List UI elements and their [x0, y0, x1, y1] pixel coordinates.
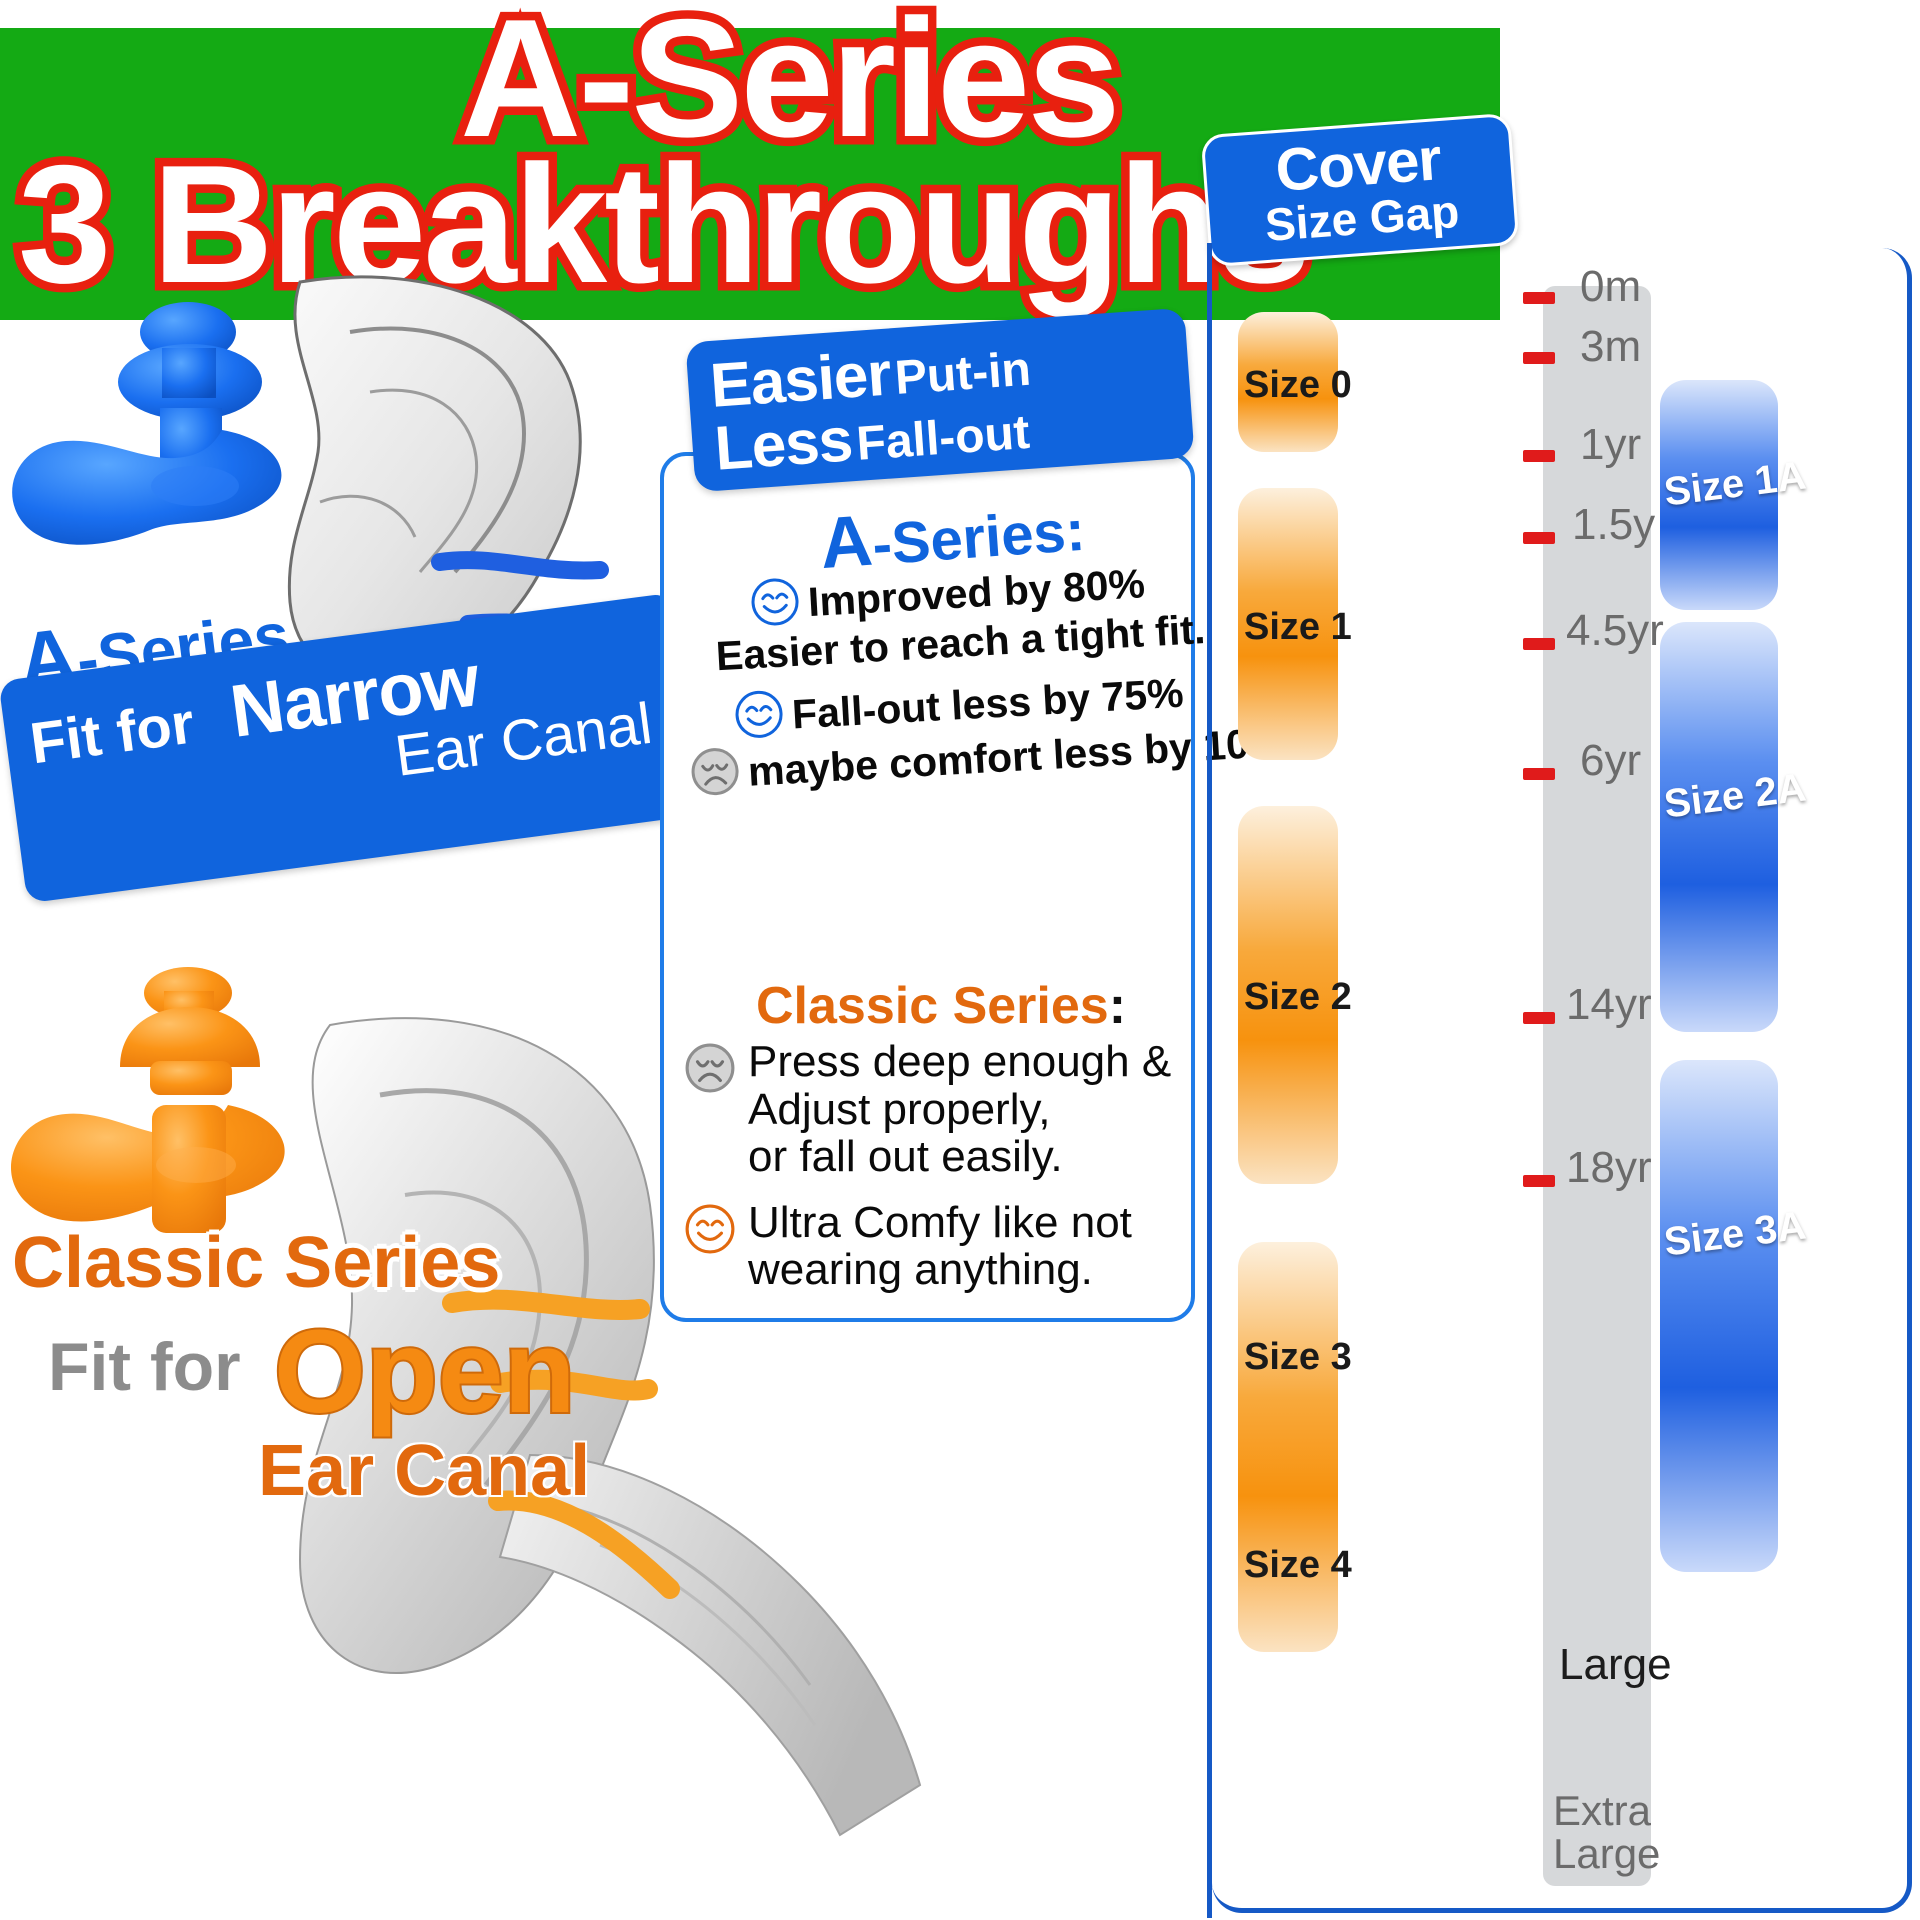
label-fit-for-open-ear-canal: Fit for Open Ear Canal — [48, 1318, 688, 1568]
less-word: Less — [713, 406, 855, 484]
age-tick-4.5yr — [1523, 638, 1555, 650]
classic-line-2: Adjust properly, — [748, 1085, 1050, 1134]
age-label-1.5y: 1.5y — [1572, 500, 1655, 550]
card-classic-heading-text: Classic Series — [756, 977, 1109, 1035]
size-pill-size-0: Size 0 — [1238, 312, 1338, 452]
size-pill-size-2-label: Size 2 — [1244, 976, 1352, 1019]
smiley-sad-gray-icon — [689, 745, 742, 803]
comparison-card: A-Series: Improved by 80% Easier to reac… — [660, 452, 1195, 1322]
comfy-line-2: wearing anything. — [748, 1245, 1093, 1294]
put-in-word: Put-in — [893, 343, 1032, 405]
classic-item-press-deep: Press deep enough & Adjust properly, or … — [684, 1038, 1194, 1181]
open-keyword-text: Open — [274, 1304, 576, 1440]
age-tick-0m — [1523, 292, 1555, 304]
smiley-happy-blue-icon — [733, 688, 786, 746]
comfy-line-1: Ultra Comfy like not — [748, 1198, 1132, 1247]
open-fit-for-text: Fit for — [48, 1328, 241, 1406]
size-pill-size-3a: Size 3A — [1660, 1060, 1778, 1572]
age-label-3m: 3m — [1580, 322, 1641, 372]
age-label-extra-large: Extra Large — [1553, 1790, 1649, 1876]
card-classic-series-heading: Classic Series: — [756, 976, 1126, 1036]
fall-out-word: Fall-out — [855, 406, 1032, 471]
age-tick-1yr — [1523, 450, 1555, 462]
card-classic-heading-colon: : — [1109, 977, 1126, 1035]
classic-series-list: Press deep enough & Adjust properly, or … — [684, 1038, 1194, 1312]
size-pill-size-3: Size 3 Size 4 — [1238, 1242, 1338, 1652]
age-label-large: Large — [1559, 1640, 1672, 1690]
age-label-18yr: 18yr — [1566, 1143, 1652, 1193]
classic-item-ultra-comfy-lines: Ultra Comfy like not wearing anything. — [748, 1199, 1132, 1294]
age-label-14yr: 14yr — [1566, 980, 1652, 1030]
age-tick-18yr — [1523, 1175, 1555, 1187]
size-pill-size-1-label: Size 1 — [1244, 606, 1352, 649]
size-pill-size-0-label: Size 0 — [1244, 364, 1352, 407]
smiley-happy-orange-icon — [684, 1203, 736, 1260]
size-pill-size-1: Size 1 — [1238, 488, 1338, 760]
earplug-blue-a-series-icon — [0, 290, 330, 610]
classic-item-press-deep-lines: Press deep enough & Adjust properly, or … — [748, 1038, 1171, 1181]
size-pill-size-1a: Size 1A — [1660, 380, 1778, 610]
smiley-happy-blue-icon — [749, 576, 802, 634]
cover-size-gap-badge: Cover Size Gap — [1201, 113, 1520, 267]
size-pill-size-4-label: Size 4 — [1244, 1544, 1352, 1587]
age-label-6yr: 6yr — [1580, 736, 1641, 786]
size-pill-size-2a: Size 2A — [1660, 622, 1778, 1032]
age-label-4.5yr: 4.5yr — [1566, 606, 1664, 656]
age-tick-3m — [1523, 352, 1555, 364]
size-pill-size-3-label: Size 3 — [1244, 1336, 1352, 1379]
size-pill-size-2: Size 2 — [1238, 806, 1338, 1184]
open-ear-canal-text: Ear Canal — [258, 1430, 590, 1512]
age-tick-6yr — [1523, 768, 1555, 780]
bullet-fallout-pct: 75% — [1100, 670, 1185, 721]
age-tick-1.5y — [1523, 532, 1555, 544]
age-tick-14yr — [1523, 1012, 1555, 1024]
a-series-bullet-list: Improved by 80% Easier to reach a tight … — [672, 566, 1192, 794]
classic-line-3: or fall out easily. — [748, 1132, 1063, 1181]
classic-item-ultra-comfy: Ultra Comfy like not wearing anything. — [684, 1199, 1194, 1294]
label-classic-series-left: Classic Series — [12, 1222, 500, 1304]
infographic-canvas: A-Series 3 Breakthroughs Cover Size Gap — [0, 0, 1920, 1920]
age-label-1yr: 1yr — [1580, 420, 1641, 470]
age-label-0m: 0m — [1580, 262, 1641, 312]
bullet-improved-pct: 80% — [1062, 560, 1147, 611]
smiley-sad-gray-icon — [684, 1042, 736, 1099]
classic-line-1: Press deep enough & — [748, 1037, 1171, 1086]
